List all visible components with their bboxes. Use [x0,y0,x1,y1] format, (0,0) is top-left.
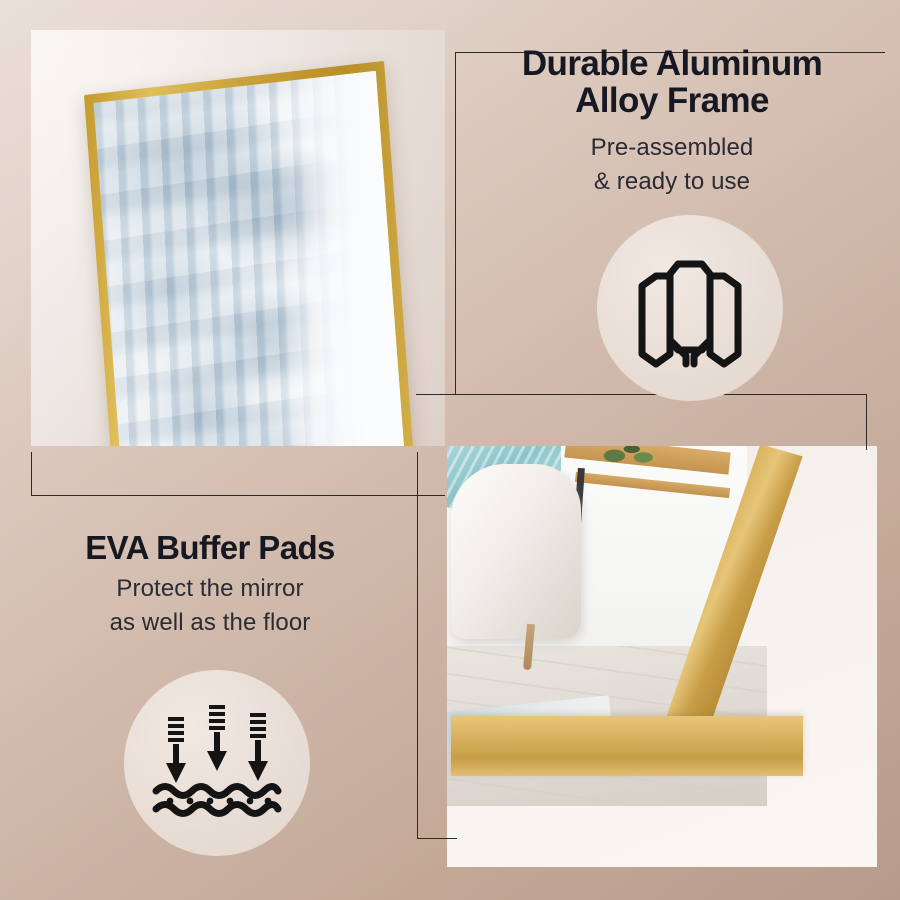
connector-line-bottom-horizontal [417,838,457,839]
aluminum-extrusion-profile-icon [620,238,760,378]
infographic-canvas: Durable Aluminum Alloy Frame Pre-assembl… [0,0,900,900]
subtext-line-2: & ready to use [594,168,750,195]
potted-plant [597,446,655,466]
connector-line-eva-right-vertical [417,452,418,839]
connector-line-middle-horizontal [416,394,866,395]
feature-subtext-eva-pads: Protect the mirror as well as the floor [10,572,410,640]
heading-line-2: Alloy Frame [575,81,769,120]
icon-badge-aluminum-frame [597,215,783,401]
gold-frame-bottom-rail [451,716,803,776]
feature-heading-eva-pads: EVA Buffer Pads [10,530,410,565]
feature-heading-aluminum-frame: Durable Aluminum Alloy Frame [462,45,882,120]
subtext-line-2: as well as the floor [110,609,311,636]
connector-line-eva-horizontal [31,495,445,496]
heading-line-1: EVA Buffer Pads [85,529,335,566]
connector-line-top-vertical [455,52,456,394]
icon-badge-eva-pads [124,670,310,856]
connector-line-eva-left-vertical [31,452,32,496]
subtext-line-1: Pre-assembled [591,134,754,161]
feature-subtext-aluminum-frame: Pre-assembled & ready to use [462,131,882,199]
feature-block-aluminum-frame: Durable Aluminum Alloy Frame Pre-assembl… [462,45,882,199]
mirror-glass-reflection [94,71,407,446]
heading-line-1: Durable Aluminum [522,44,822,83]
room-corner-photo [447,446,877,867]
connector-line-right-vertical [866,394,867,450]
mirror-art-photo [31,30,445,446]
white-armchair [451,464,581,639]
feature-block-eva-pads: EVA Buffer Pads Protect the mirror as we… [10,530,410,640]
gold-aluminum-frame [84,61,416,446]
cushioned-impact-absorption-icon [146,699,288,827]
subtext-line-1: Protect the mirror [116,575,303,602]
